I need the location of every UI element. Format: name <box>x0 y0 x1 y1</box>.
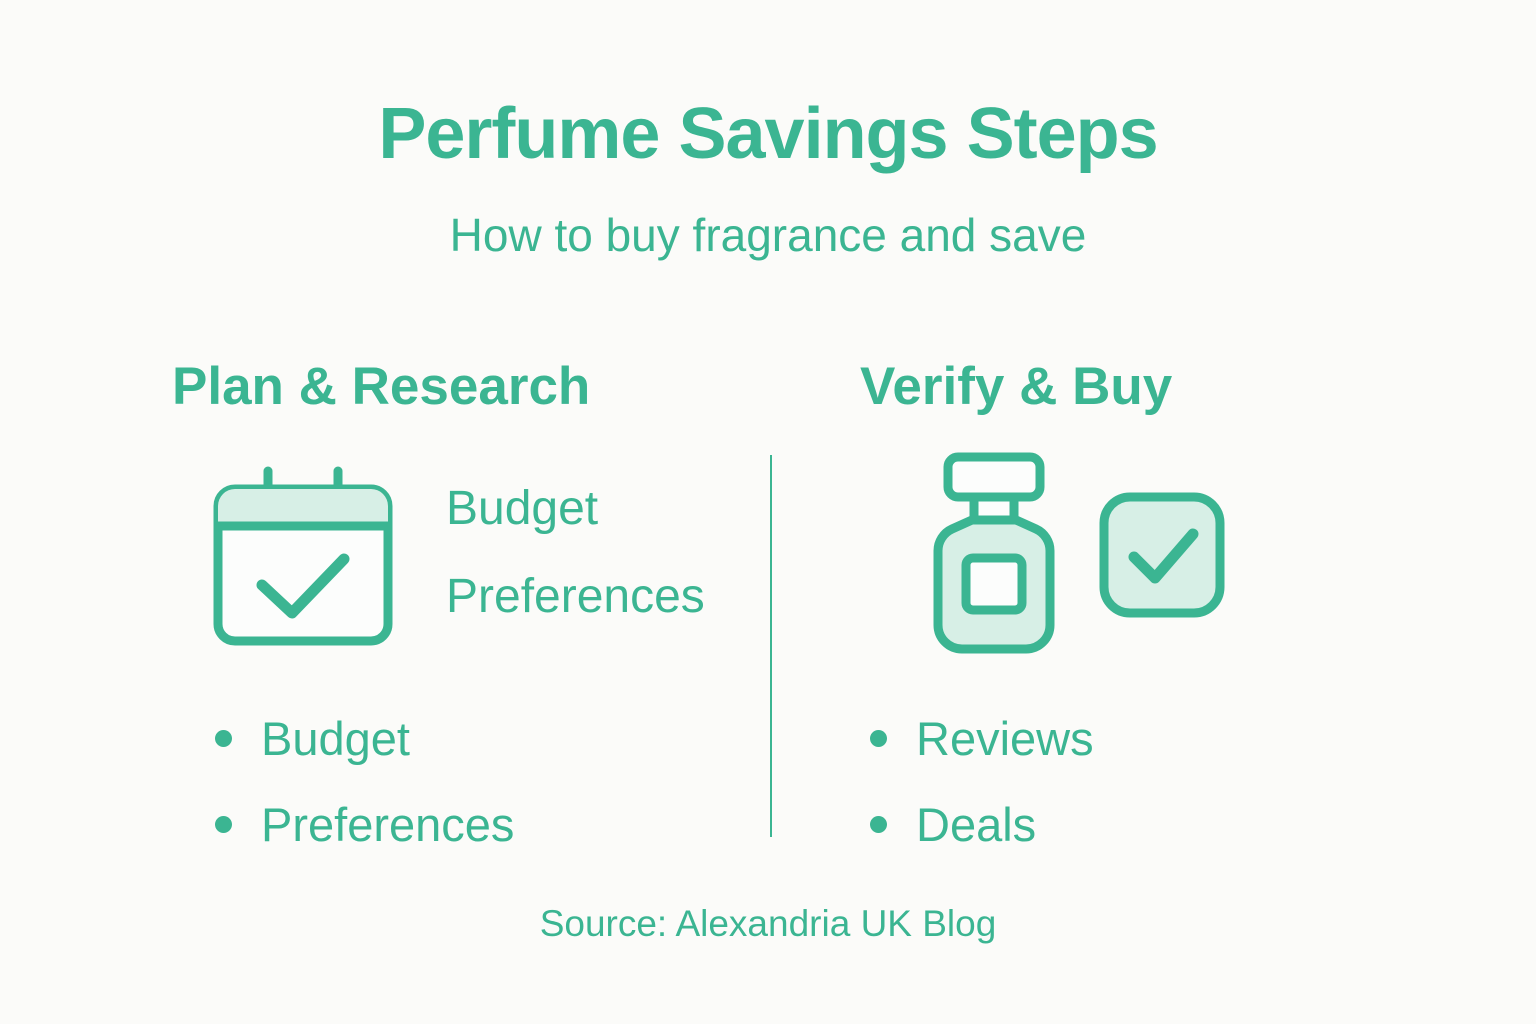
page-title: Perfume Savings Steps <box>0 86 1536 182</box>
list-item: Deals <box>870 781 1094 867</box>
bullet-list-verify-buy: Reviews Deals <box>870 695 1094 867</box>
page-subtitle: How to buy fragrance and save <box>0 203 1536 267</box>
check-badge-icon <box>1098 491 1226 623</box>
list-item-label: Reviews <box>916 711 1094 766</box>
bullet-dot-icon <box>215 730 232 747</box>
list-item: Reviews <box>870 695 1094 781</box>
list-item-label: Budget <box>261 711 410 766</box>
infographic-poster: Perfume Savings Steps How to buy fragran… <box>0 0 1536 1024</box>
source-attribution: Source: Alexandria UK Blog <box>0 898 1536 950</box>
bullet-dot-icon <box>870 816 887 833</box>
icon-row-right <box>918 450 1226 664</box>
bullet-dot-icon <box>215 816 232 833</box>
icon-side-text-line-2: Preferences <box>446 553 705 641</box>
list-item: Preferences <box>215 781 514 867</box>
list-item-label: Deals <box>916 797 1036 852</box>
column-heading-verify-buy: Verify & Buy <box>860 352 1172 422</box>
icon-side-text-line-1: Budget <box>446 465 705 553</box>
icon-row-left: Budget Preferences <box>210 455 705 651</box>
column-divider <box>770 455 772 837</box>
list-item: Budget <box>215 695 514 781</box>
bullet-list-plan-research: Budget Preferences <box>215 695 514 867</box>
list-item-label: Preferences <box>261 797 514 852</box>
column-heading-plan-research: Plan & Research <box>172 352 590 422</box>
perfume-bottle-icon <box>918 450 1070 664</box>
calendar-check-icon <box>210 455 396 651</box>
bullet-dot-icon <box>870 730 887 747</box>
icon-side-text-left: Budget Preferences <box>446 465 705 641</box>
